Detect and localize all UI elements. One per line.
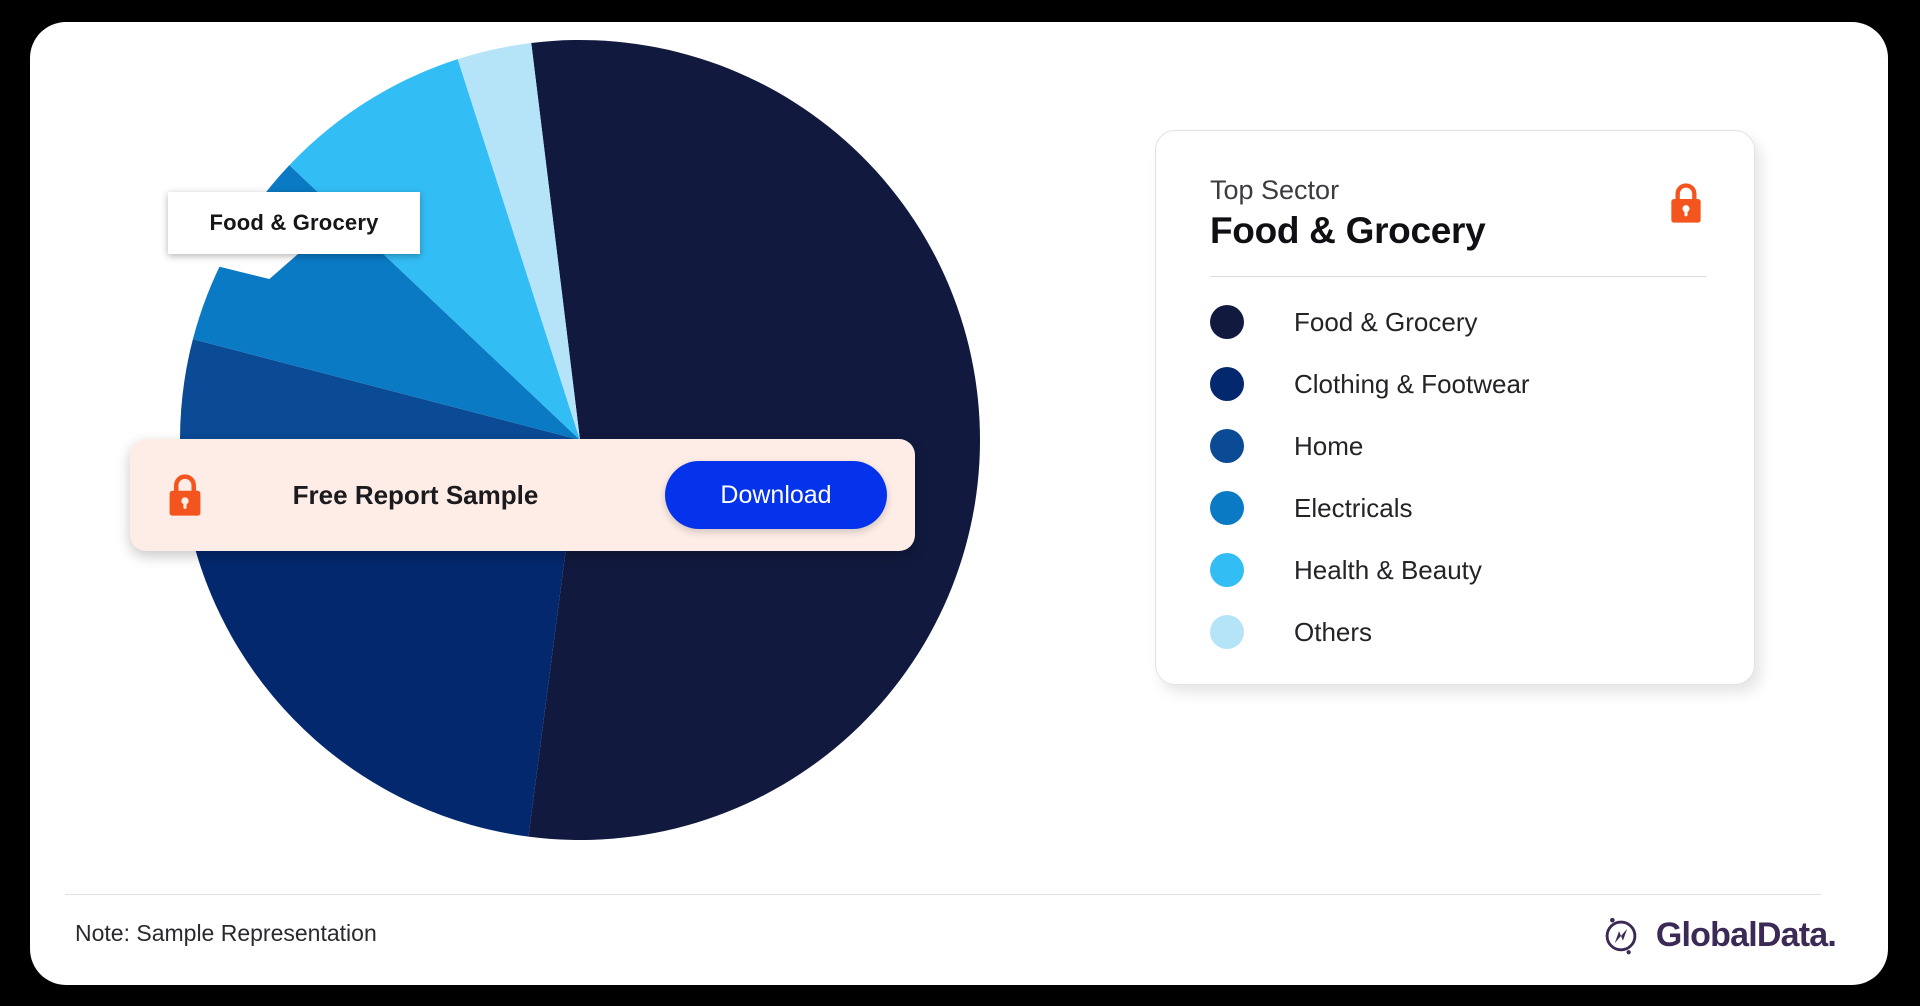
legend-color-swatch: [1210, 553, 1244, 587]
callout-label: Food & Grocery: [209, 210, 378, 236]
legend-item-label: Food & Grocery: [1294, 307, 1478, 338]
legend-item[interactable]: Others: [1210, 601, 1706, 663]
legend-color-swatch: [1210, 615, 1244, 649]
free-report-banner[interactable]: Free Report Sample Download: [130, 439, 915, 551]
legend-color-swatch: [1210, 491, 1244, 525]
legend-item[interactable]: Food & Grocery: [1210, 291, 1706, 353]
top-sector-header: Top Sector Food & Grocery: [1210, 175, 1706, 252]
footer-divider: [65, 894, 1821, 895]
page-card: Food & Grocery Free Report Sample Downlo…: [30, 22, 1888, 985]
legend-item[interactable]: Home: [1210, 415, 1706, 477]
legend-item-label: Home: [1294, 431, 1363, 462]
top-sector-text-group: Top Sector Food & Grocery: [1210, 175, 1485, 252]
top-sector-card: Top Sector Food & Grocery Food & Grocery…: [1155, 130, 1755, 685]
slice-callout: Food & Grocery: [168, 192, 420, 254]
chart-area: Food & Grocery Free Report Sample Downlo…: [30, 22, 1150, 902]
legend-item[interactable]: Electricals: [1210, 477, 1706, 539]
legend-item[interactable]: Health & Beauty: [1210, 539, 1706, 601]
globaldata-logo-icon: [1598, 912, 1644, 958]
top-sector-value: Food & Grocery: [1210, 210, 1485, 252]
globaldata-wordmark: GlobalData.: [1656, 916, 1836, 955]
legend-color-swatch: [1210, 305, 1244, 339]
legend-item-label: Clothing & Footwear: [1294, 369, 1530, 400]
lock-icon: [1666, 181, 1706, 225]
footer-note: Note: Sample Representation: [75, 920, 377, 947]
legend-item-label: Electricals: [1294, 493, 1412, 524]
legend-color-swatch: [1210, 429, 1244, 463]
legend-color-swatch: [1210, 367, 1244, 401]
globaldata-brand: GlobalData.: [1598, 912, 1836, 958]
download-button[interactable]: Download: [665, 461, 887, 529]
legend-list: Food & GroceryClothing & FootwearHomeEle…: [1210, 291, 1706, 663]
free-report-label: Free Report Sample: [166, 480, 665, 511]
legend-item[interactable]: Clothing & Footwear: [1210, 353, 1706, 415]
top-sector-eyebrow: Top Sector: [1210, 175, 1485, 206]
legend-item-label: Health & Beauty: [1294, 555, 1482, 586]
legend-divider: [1210, 276, 1706, 277]
legend-item-label: Others: [1294, 617, 1372, 648]
